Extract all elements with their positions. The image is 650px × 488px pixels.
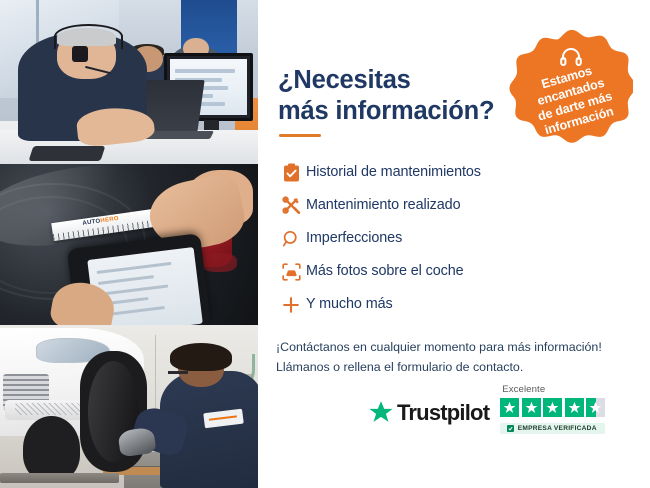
car-inspection-ruler-photo: AUTOHERO [0,164,258,325]
feature-list: Historial de mantenimientos M [276,156,616,321]
feature-label: Más fotos sobre el coche [306,264,464,278]
magnifier-icon [276,230,306,248]
wall-seam [155,335,157,417]
feature-item-more-photos: Más fotos sobre el coche [276,255,616,288]
contact-copy: ¡Contáctanos en cualquier momento para m… [276,337,641,377]
headset-earcup [72,46,87,62]
page-title: ¿Necesitas más información? [278,65,528,127]
photo-column: AUTOHERO [0,0,258,488]
star-1 [500,398,519,417]
badge-text: Estamos encantados de darte más informac… [528,60,618,139]
information-promo-card: AUTOHERO [0,0,650,488]
trustpilot-star-icon [368,400,394,425]
feature-item-maintenance-done: Mantenimiento realizado [276,189,616,222]
content-panel: ¿Necesitas más información? Estamos enca… [258,0,650,488]
maintenance-history-icon [276,163,306,182]
car-lift-arm [0,473,119,483]
rating-label: Excelente [502,384,545,395]
headset-band [54,24,123,49]
promo-badge: Estamos encantados de darte más informac… [507,26,633,152]
call-center-agents-photo [0,0,258,164]
trustpilot-logo: Trustpilot [368,400,489,434]
star-4 [565,398,584,417]
trustpilot-rating: Excelente [500,384,605,434]
title-divider [279,134,321,137]
mechanic-tire-inspection-photo [0,325,258,488]
trustpilot-wordmark: Trustpilot [397,402,489,424]
star-2 [522,398,541,417]
car-taillight-lower [201,253,237,272]
verified-business-badge: EMPRESA VERIFICADA [500,423,605,434]
feature-item-imperfections: Imperfecciones [276,222,616,255]
verified-label: EMPRESA VERIFICADA [518,425,597,432]
car-rear-wheel [23,416,80,481]
safety-glasses [168,371,189,374]
feature-label: Y mucho más [306,297,393,311]
feature-item-maintenance-history: Historial de mantenimientos [276,156,616,189]
mechanic-hair [170,343,232,371]
feature-label: Historial de mantenimientos [306,165,481,179]
plus-icon [276,296,306,314]
star-5-half [586,398,605,417]
feature-label: Mantenimiento realizado [306,198,461,212]
feature-label: Imperfecciones [306,231,402,245]
tools-wrench-screwdriver-icon [276,196,306,215]
star-3 [543,398,562,417]
verified-check-icon [507,425,514,432]
star-rating [500,398,605,417]
trustpilot-widget[interactable]: Trustpilot Excelente [368,384,605,434]
car-photo-scan-icon [276,263,306,281]
feature-item-much-more: Y mucho más [276,288,616,321]
desk-tablet [29,146,106,161]
